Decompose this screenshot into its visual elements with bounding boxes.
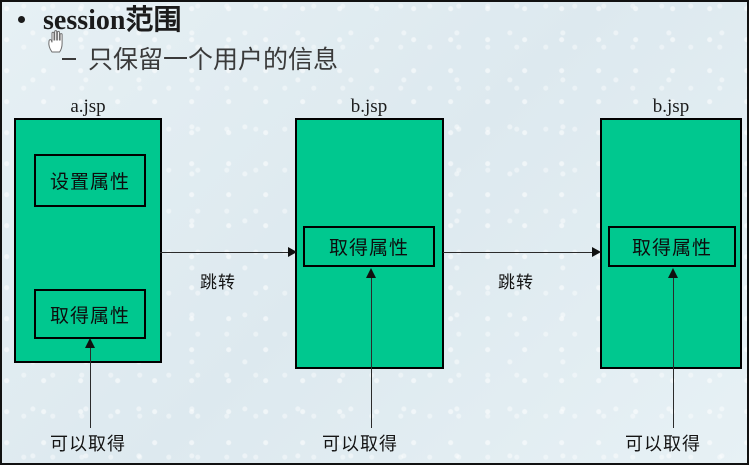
access-arrow-2-line: [371, 278, 372, 428]
bottom-label-3: 可以取得: [625, 430, 701, 456]
bottom-label-2: 可以取得: [322, 430, 398, 456]
bottom-label-1: 可以取得: [50, 430, 126, 456]
block-get-attribute-b1: 取得属性: [303, 226, 435, 267]
transition-arrow-2-head-icon: [592, 247, 601, 257]
page-label-b-jsp-1: b.jsp: [289, 96, 449, 118]
access-arrow-1-line: [90, 348, 91, 428]
page-label-b-jsp-2: b.jsp: [595, 96, 747, 118]
transition-arrow-1-head-icon: [288, 247, 297, 257]
transition-arrow-1-line: [160, 252, 294, 253]
page-label-a-jsp: a.jsp: [8, 96, 168, 118]
access-arrow-2-head-icon: [366, 268, 376, 278]
slide-canvas: session范围 只保留一个用户的信息 a.jsp b.jsp b.jsp 设…: [0, 0, 749, 465]
bullet-dot-icon: [18, 16, 25, 23]
bullet-level2-text: 只保留一个用户的信息: [88, 46, 338, 76]
block-get-attribute-b2: 取得属性: [608, 226, 736, 267]
access-arrow-1-head-icon: [85, 338, 95, 348]
access-arrow-3-head-icon: [668, 268, 678, 278]
bullet-level1: session范围: [18, 4, 181, 38]
block-set-attribute: 设置属性: [34, 154, 146, 207]
access-arrow-3-line: [673, 278, 674, 428]
pointing-hand-cursor-icon: [46, 28, 68, 54]
block-get-attribute-a: 取得属性: [34, 289, 146, 339]
bullet-level2: 只保留一个用户的信息: [62, 46, 338, 76]
transition-arrow-2-line: [443, 252, 593, 253]
transition-label-2: 跳转: [498, 268, 534, 293]
transition-label-1: 跳转: [200, 268, 236, 293]
bullet-dash-icon: [62, 58, 76, 60]
